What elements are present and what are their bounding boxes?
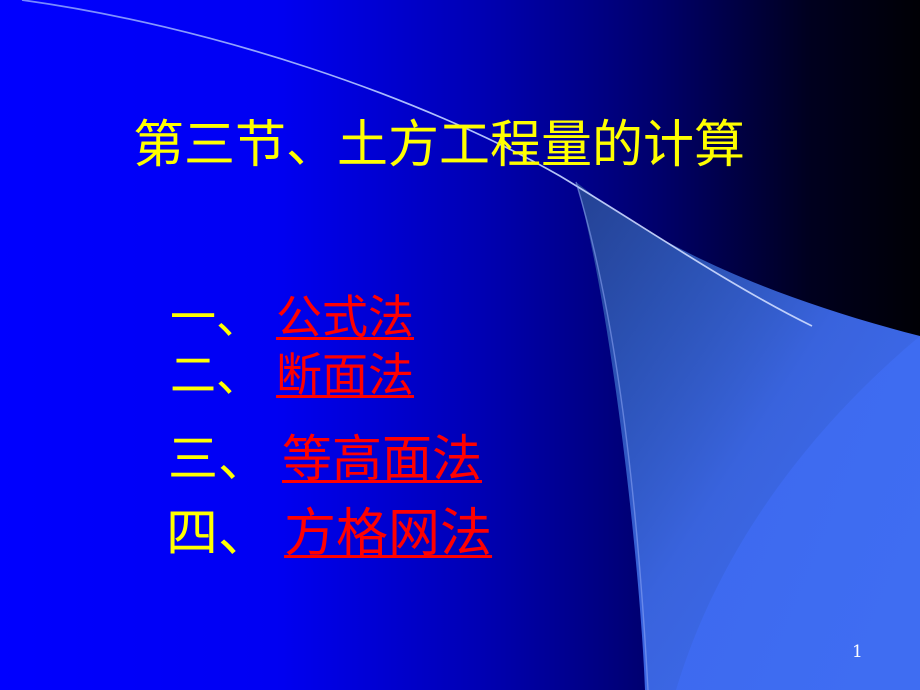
list-item-link-section-method[interactable]: 断面法 — [276, 348, 414, 402]
list-item-number: 一、 — [170, 290, 262, 344]
list-item-number: 二、 — [170, 348, 262, 402]
list-item: 四、方格网法 — [166, 508, 492, 560]
page-number: 1 — [852, 642, 863, 662]
presentation-slide: 第三节、土方工程量的计算 一、公式法 二、断面法 三、等高面法 四、方格网法 1 — [0, 0, 920, 690]
slide-content: 第三节、土方工程量的计算 一、公式法 二、断面法 三、等高面法 四、方格网法 1 — [0, 0, 920, 690]
list-item-link-grid-method[interactable]: 方格网法 — [284, 504, 492, 564]
list-item: 一、公式法 — [170, 294, 414, 340]
method-list: 一、公式法 二、断面法 三、等高面法 四、方格网法 — [0, 0, 920, 690]
list-item-number: 三、 — [168, 430, 268, 488]
list-item: 三、等高面法 — [168, 434, 482, 484]
list-item-link-formula-method[interactable]: 公式法 — [276, 290, 414, 344]
list-item-link-contour-method[interactable]: 等高面法 — [282, 430, 482, 488]
list-item: 二、断面法 — [170, 352, 414, 398]
list-item-number: 四、 — [166, 504, 270, 564]
